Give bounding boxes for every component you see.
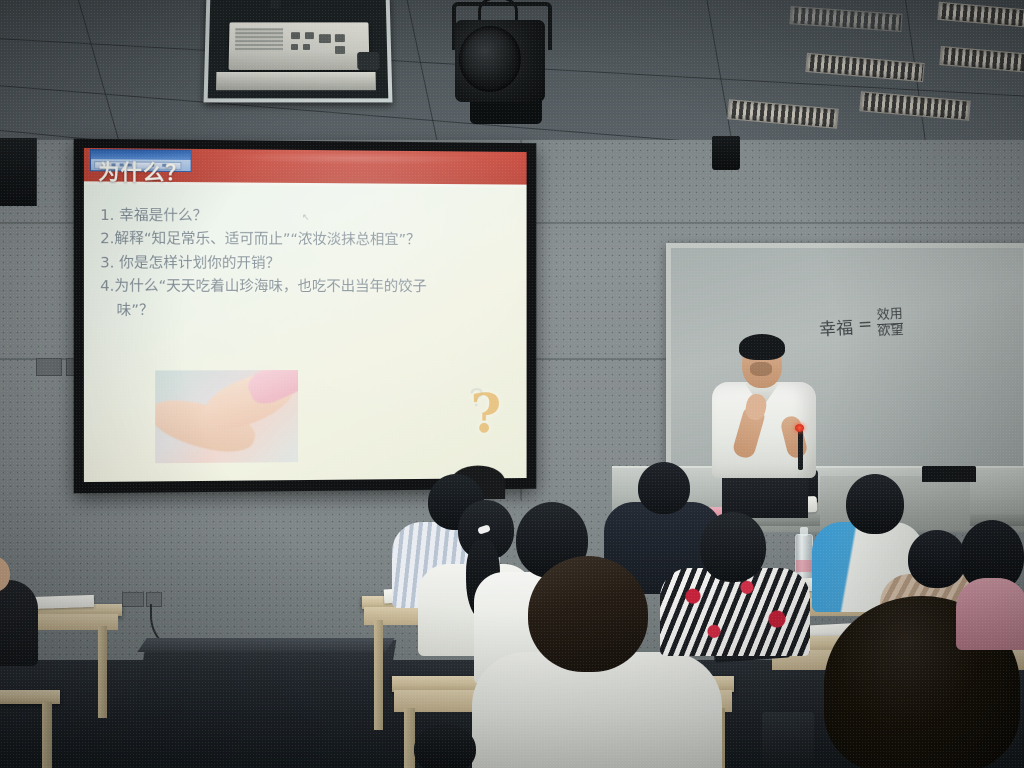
student-floral-print [660, 512, 810, 652]
spotlight-lens [459, 26, 521, 92]
student-body [0, 580, 38, 666]
ceiling-light-fixture [937, 2, 1024, 28]
wall-power-outlet[interactable] [122, 592, 144, 607]
projector-vent [235, 28, 283, 52]
instructor-face-shadow [750, 362, 772, 376]
ceiling [0, 0, 1024, 152]
instructor-hair [739, 334, 785, 360]
desk-leg [42, 702, 52, 768]
podium-monitor [922, 466, 976, 482]
slide-surface: 为什么？ ↖ 1. 幸福是什么？ 2.解释“知足常乐、适可而止”“浓妆淡抹总相宜… [84, 148, 527, 482]
student-body [956, 578, 1024, 650]
ceiling-light-fixture [790, 6, 903, 32]
slide-bullet-3: 3. 你是怎样计划你的开销？ [100, 252, 515, 277]
slide-image-holding-hands [155, 370, 298, 463]
slide-bullet-list: 1. 幸福是什么？ 2.解释“知足常乐、适可而止”“浓妆淡抹总相宜”？ 3. 你… [100, 205, 515, 324]
formula-numerator: 效用 [876, 307, 903, 323]
ceiling-light-fixture [805, 53, 924, 82]
right-wall-speaker [712, 136, 740, 170]
formula-fraction: 效用 欲望 [876, 308, 904, 340]
formula-denominator: 欲望 [877, 323, 904, 339]
projector-recess [204, 0, 393, 102]
question-mark-icon: ? [470, 381, 501, 445]
student-head [700, 512, 766, 582]
left-wall-speaker [0, 138, 37, 206]
student-bottom-left [414, 724, 484, 768]
projector [229, 22, 370, 70]
projection-screen: 为什么？ ↖ 1. 幸福是什么？ 2.解释“知足常乐、适可而止”“浓妆淡抹总相宜… [74, 139, 537, 494]
student-head [846, 474, 904, 534]
student-head [528, 556, 648, 672]
ceiling-light-fixture [939, 46, 1024, 73]
slide-bullet-2: 2.解释“知足常乐、适可而止”“浓妆淡抹总相宜”？ [100, 228, 515, 253]
classroom-photo: 为什么？ ↖ 1. 幸福是什么？ 2.解释“知足常乐、适可而止”“浓妆淡抹总相宜… [0, 0, 1024, 768]
slide-title: 为什么？ [98, 156, 187, 187]
microphone [798, 428, 803, 470]
student-head [414, 724, 476, 768]
raised-platform [134, 640, 397, 720]
projector-lens [357, 52, 379, 70]
desk-leg [374, 620, 383, 730]
slide-bullet-1: 1. 幸福是什么？ [100, 205, 515, 231]
ceiling-light-fixture [859, 91, 970, 121]
formula-equals: = [857, 315, 872, 336]
projector-mount-pole [270, 0, 283, 9]
ceiling-light-fixture [727, 99, 838, 129]
platform-top-surface [137, 638, 394, 652]
wall-switch-panel[interactable] [36, 358, 62, 376]
slide-bullet-4-cont: 味”？ [100, 300, 515, 324]
student-right-edge [960, 520, 1024, 640]
microphone-led-indicator [795, 424, 804, 432]
projector-recess-lip [216, 72, 376, 90]
desk-leg [98, 626, 107, 718]
student-head [638, 462, 690, 514]
slide-bullet-4: 4.为什么“天天吃着山珍海味，也吃不出当年的饺子 [100, 276, 515, 300]
header-sheen [219, 151, 483, 165]
student-head [908, 530, 966, 588]
student-partial-left [0, 552, 60, 672]
chair [762, 712, 814, 766]
